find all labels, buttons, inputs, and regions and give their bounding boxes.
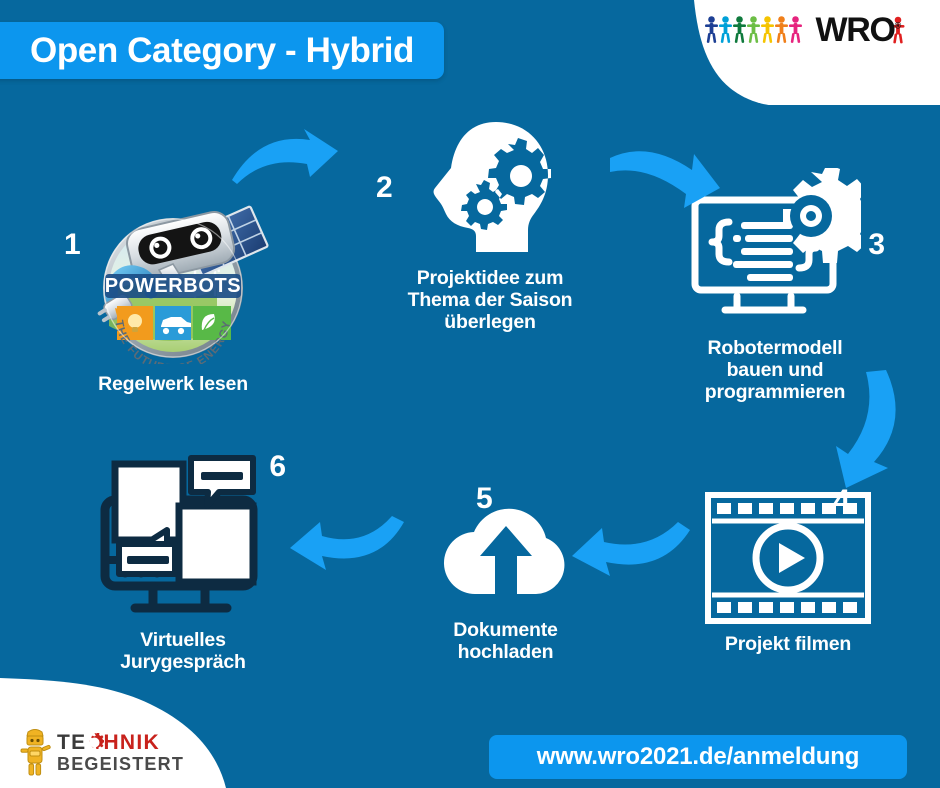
step-1-regelwerk-lesen[interactable]: 1 [48, 196, 298, 395]
infographic-canvas: Open Category - Hybrid [0, 0, 940, 788]
step-6-virtuelles-jurygespraech[interactable]: 6 [58, 448, 308, 673]
step-2-number: 2 [376, 173, 393, 203]
wro-logo: WRO® [705, 13, 906, 47]
monitor-code-gear-icon [689, 168, 861, 328]
step-3-label: Robotermodell bauen und programmieren [705, 337, 845, 404]
film-strip-play-icon [705, 492, 871, 624]
powerbots-wordmark: POWERBOTS [105, 275, 242, 297]
gear-icon [85, 733, 104, 752]
step-6-label: Virtuelles Jurygespräch [120, 629, 246, 673]
head-with-gears-icon [424, 118, 556, 258]
begeistert-wordmark: BEGEISTERT [57, 755, 184, 773]
technik-wordmark: TE HNIK [57, 732, 184, 753]
registered-mark: ® [895, 21, 900, 31]
step-4-projekt-filmen[interactable]: 4 Projekt filmen [678, 492, 898, 655]
step-5-label: Dokumente hochladen [453, 619, 557, 663]
step-3-robotermodell[interactable]: 3 [655, 168, 895, 404]
video-conference-icon [95, 448, 271, 620]
technik-begeistert-logo: TE HNIK BEGEISTERT [18, 726, 184, 778]
arrow-step1-to-step2 [228, 128, 344, 195]
wro-wordmark: WRO® [815, 13, 900, 47]
powerbots-season-logo-icon: POWERBOTS [75, 196, 271, 364]
step-2-projektidee[interactable]: 2 Projektidee zum Thema der Saison überl… [370, 118, 610, 334]
registration-url-text: www.wro2021.de/anmeldung [537, 743, 859, 771]
step-2-label: Projektidee zum Thema der Saison überleg… [408, 267, 573, 334]
step-5-dokumente-hochladen[interactable]: 5 Dokumente hochladen [398, 490, 613, 663]
step-4-label: Projekt filmen [725, 633, 851, 655]
page-title-banner: Open Category - Hybrid [0, 22, 444, 79]
page-title: Open Category - Hybrid [30, 31, 414, 71]
registration-url-button[interactable]: www.wro2021.de/anmeldung [489, 735, 907, 779]
step-6-number: 6 [269, 452, 286, 482]
step-3-number: 3 [868, 230, 885, 260]
step-1-label: Regelwerk lesen [98, 373, 248, 395]
cloud-upload-icon [432, 490, 580, 610]
wro-people-icon [705, 13, 813, 47]
technik-robot-icon [18, 726, 52, 778]
